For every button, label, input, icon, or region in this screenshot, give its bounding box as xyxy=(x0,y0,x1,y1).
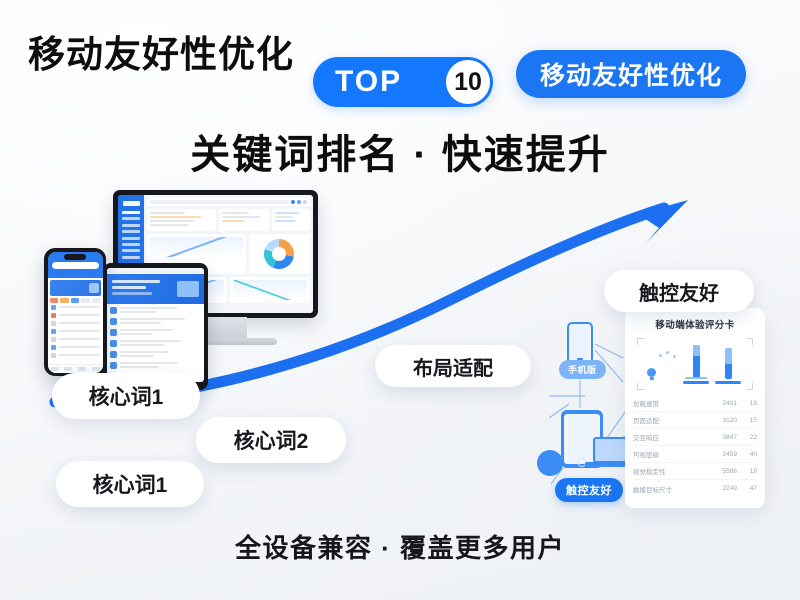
top-badge-number: 10 xyxy=(446,60,490,104)
mini-laptop-icon xyxy=(593,437,627,463)
score-card-chart xyxy=(637,338,753,390)
header-tag-pill: 移动友好性优化 xyxy=(516,50,746,98)
poster-canvas: 移动友好性优化 TOP 10 移动友好性优化 关键词排名 · 快速提升 xyxy=(0,0,800,600)
keyword-pill-1: 核心词1 xyxy=(52,373,200,419)
phone-notch xyxy=(64,254,86,260)
page-subtitle: 关键词排名 · 快速提升 xyxy=(0,122,800,180)
score-card-title: 移动端体验评分卡 xyxy=(633,317,757,331)
mini-pill-touch-friendly: 触控友好 xyxy=(555,478,623,502)
footer-tagline: 全设备兼容 · 覆盖更多用户 xyxy=(0,528,800,565)
top-rank-badge: TOP 10 xyxy=(313,57,493,107)
keyword-pill-3: 核心词1 xyxy=(56,461,204,507)
table-row: 页面适配 3120 15 xyxy=(633,412,757,429)
table-row: 可视层级 2459 40 xyxy=(633,446,757,463)
mini-pill-mobile-version: 手机版 xyxy=(559,360,606,379)
feature-pill-layout: 布局适配 xyxy=(375,345,531,387)
feature-pill-touch: 触控友好 xyxy=(604,270,754,312)
device-mockup-cluster xyxy=(35,190,325,390)
smartphone-mockup xyxy=(44,248,106,376)
score-card: 移动端体验评分卡 加载速度 2491 18 xyxy=(625,308,765,508)
table-row: 加载速度 2491 18 xyxy=(633,395,757,412)
score-card-table: 加载速度 2491 18 页面适配 3120 15 交互响应 3847 22 可… xyxy=(633,395,757,497)
phone-search-bar xyxy=(52,262,99,269)
donut-chart xyxy=(264,239,294,269)
tablet-mockup xyxy=(103,263,208,390)
table-row: 交互响应 3847 22 xyxy=(633,429,757,446)
mini-phone-icon xyxy=(567,322,593,364)
table-row: 视觉稳定性 5586 19 xyxy=(633,463,757,480)
keyword-pill-2: 核心词2 xyxy=(196,417,346,463)
page-title: 移动友好性优化 xyxy=(28,24,294,78)
top-badge-word: TOP xyxy=(335,65,402,99)
bulb-icon xyxy=(647,368,656,377)
table-row: 触摸目标尺寸 2249 47 xyxy=(633,480,757,497)
accent-dot xyxy=(537,450,563,476)
device-relation-diagram: 手机版 触控友好 移动端体验评分卡 xyxy=(545,300,775,515)
